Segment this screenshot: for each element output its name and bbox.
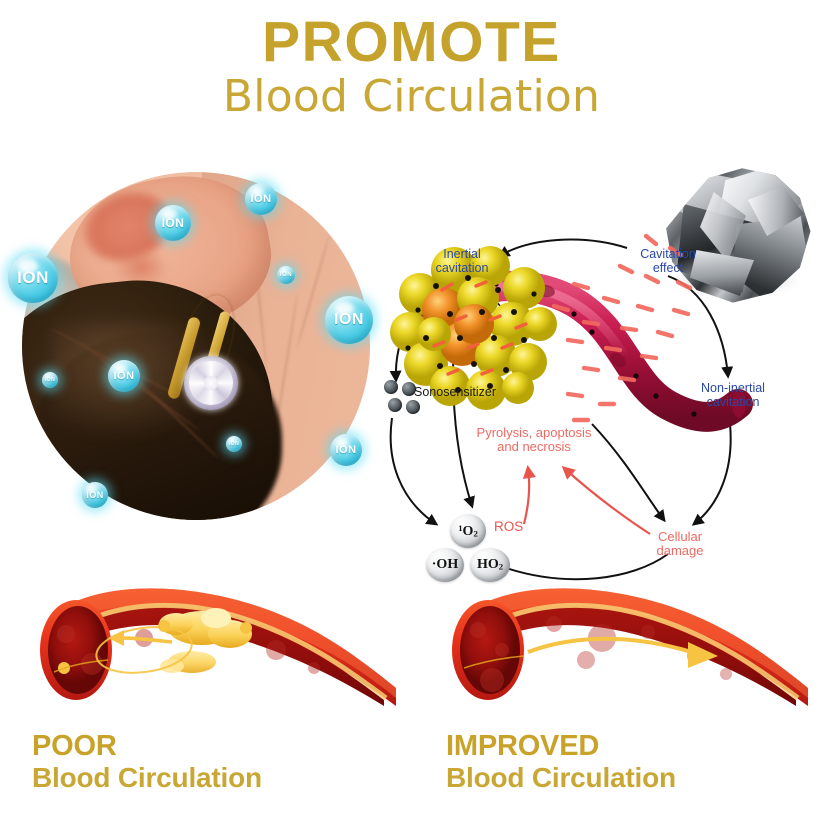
- ion-bubble-label: ION: [335, 444, 356, 456]
- ion-bubble: ION: [42, 372, 58, 388]
- ion-bubble: ION: [245, 183, 277, 215]
- ion-bubble-label: ION: [113, 370, 134, 382]
- ion-bubble: ION: [330, 434, 362, 466]
- earring-gem-center: [204, 376, 218, 390]
- infographic-canvas: PROMOTE Blood Circulation IONIONIONION: [0, 0, 823, 823]
- page-title: PROMOTE Blood Circulation: [0, 14, 823, 123]
- ion-bubble: ION: [226, 436, 242, 452]
- ros-formula: 1O2: [458, 523, 478, 540]
- ion-bubble-label: ION: [280, 272, 292, 278]
- label-cellular-damage: Cellular damage: [636, 530, 724, 558]
- ion-bubble-label: ION: [229, 441, 239, 447]
- ion-bubble-label: ION: [162, 216, 185, 230]
- ros-formula: HO2: [477, 557, 503, 573]
- ion-bubble-label: ION: [86, 490, 104, 500]
- ion-bubble-label: ION: [334, 311, 364, 329]
- ion-bubble: ION: [277, 266, 295, 284]
- poor-subtitle: Blood Circulation: [32, 762, 262, 793]
- ion-bubble: ION: [108, 360, 140, 392]
- poor-title: POOR: [32, 732, 262, 762]
- gold-earring: [170, 294, 262, 414]
- label-non-inertial-cavitation: Non-inertial cavitation: [678, 382, 788, 409]
- ion-bubble-label: ION: [45, 377, 55, 383]
- label-inertial-cavitation: Inertial cavitation: [414, 248, 510, 275]
- label-ros: ROS: [494, 520, 538, 535]
- ion-bubble-label: ION: [17, 268, 49, 288]
- improved-subtitle: Blood Circulation: [446, 762, 676, 793]
- ear-earring-photo: [22, 172, 370, 520]
- ion-bubble-label: ION: [250, 193, 271, 205]
- ros-species-1o2: 1O2: [450, 514, 486, 548]
- ros-formula: ·OH: [432, 557, 458, 573]
- ion-bubble: ION: [82, 482, 108, 508]
- label-sonosensitizer: Sonosensitizer: [414, 386, 524, 400]
- improved-caption: IMPROVED Blood Circulation: [446, 732, 676, 793]
- title-subtitle: Blood Circulation: [0, 71, 823, 123]
- sonodynamic-cavitation-mechanism-diagram: 1O2 ·OH HO2 Inertial cavitation Cavitati…: [378, 228, 802, 588]
- label-cavitation-effect: Cavitation effect: [616, 248, 720, 275]
- improved-title: IMPROVED: [446, 732, 676, 762]
- ion-bubble: ION: [325, 296, 373, 344]
- improved-blood-circulation-vessel: [436, 576, 818, 716]
- poor-blood-circulation-vessel: [24, 576, 406, 716]
- ion-bubble: ION: [8, 253, 58, 303]
- label-pyrolysis-apoptosis-necrosis: Pyrolysis, apoptosis and necrosis: [456, 426, 612, 454]
- ion-bubble: ION: [155, 205, 191, 241]
- poor-caption: POOR Blood Circulation: [32, 732, 262, 793]
- title-main: PROMOTE: [0, 14, 823, 71]
